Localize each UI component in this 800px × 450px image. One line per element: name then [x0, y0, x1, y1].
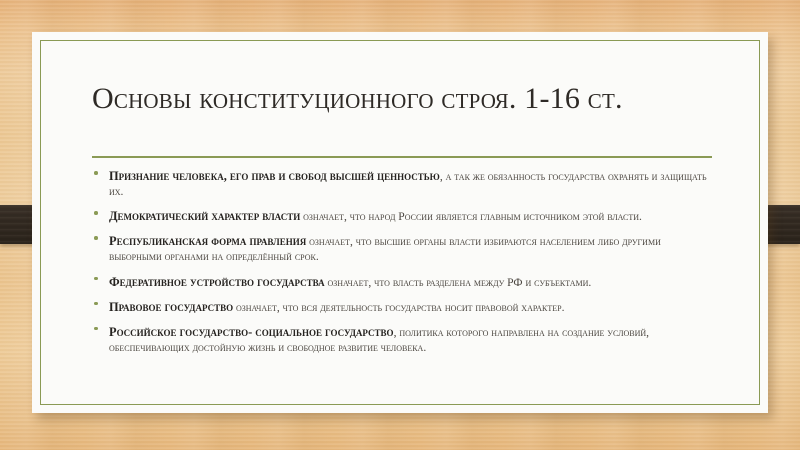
- list-item: Федеративное устройство государства озна…: [92, 274, 714, 290]
- list-item-rest: означает, что народ России является глав…: [300, 210, 642, 223]
- list-item-rest: означает, что вся деятельность государст…: [233, 301, 564, 314]
- list-item-lead: Республиканская форма правления: [109, 234, 306, 248]
- bullet-dot-icon: [94, 236, 98, 240]
- list-item-lead: Правовое государство: [109, 300, 233, 314]
- list-item-lead: Российское государство- социальное госуд…: [109, 325, 394, 339]
- list-item-lead: Признание человека, его прав и свобод вы…: [109, 169, 440, 183]
- bullet-list: Признание человека, его прав и свобод вы…: [92, 168, 714, 364]
- bullet-dot-icon: [94, 211, 98, 215]
- page-title: Основы конституционного строя. 1-16 ст.: [92, 82, 712, 116]
- list-item: Демократический характер власти означает…: [92, 208, 714, 224]
- bullet-dot-icon: [94, 171, 98, 175]
- list-item: Правовое государство означает, что вся д…: [92, 299, 714, 315]
- bullet-dot-icon: [94, 302, 98, 306]
- list-item: Российское государство- социальное госуд…: [92, 324, 714, 355]
- list-item-lead: Федеративное устройство государства: [109, 275, 325, 289]
- bullet-dot-icon: [94, 277, 98, 281]
- list-item-rest: означает, что власть разделена между РФ …: [325, 276, 592, 289]
- list-item-lead: Демократический характер власти: [109, 209, 300, 223]
- list-item: Признание человека, его прав и свобод вы…: [92, 168, 714, 199]
- presentation-slide: Основы конституционного строя. 1-16 ст. …: [0, 0, 800, 450]
- bullet-dot-icon: [94, 327, 98, 331]
- list-item: Республиканская форма правления означает…: [92, 233, 714, 264]
- title-divider: [92, 156, 712, 158]
